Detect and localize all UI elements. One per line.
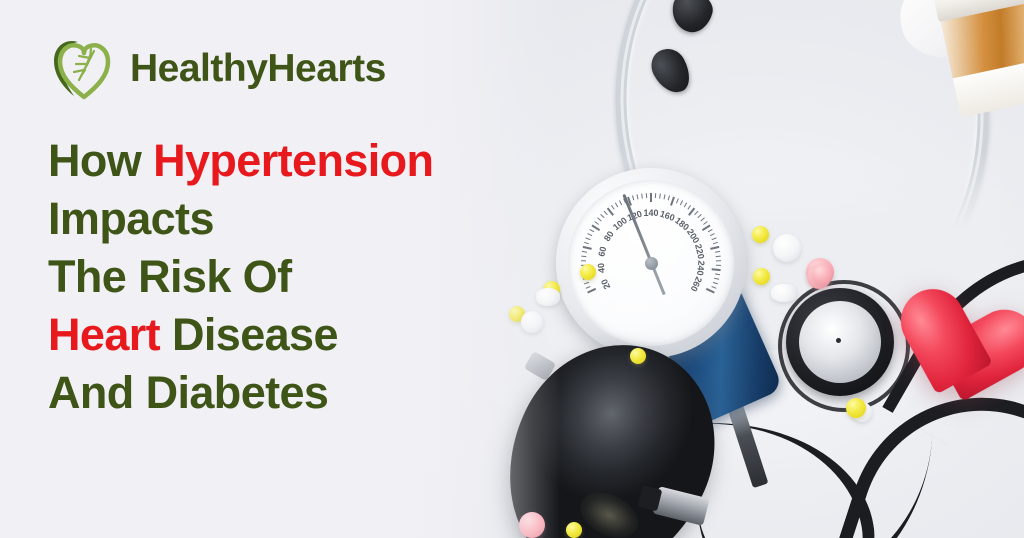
headline: How HypertensionImpactsThe Risk OfHeart … — [48, 132, 548, 422]
svg-text:60: 60 — [596, 245, 608, 257]
svg-text:240: 240 — [695, 260, 706, 276]
headline-line-5: And Diabetes — [48, 364, 548, 422]
bp-gauge-hub — [645, 257, 658, 270]
headline-text: The Risk Of — [48, 251, 291, 302]
pill-yellow — [580, 264, 596, 280]
pill-yellow — [753, 268, 770, 285]
svg-text:20: 20 — [599, 277, 612, 290]
svg-text:260: 260 — [689, 275, 704, 293]
pill-yellow — [752, 226, 769, 243]
pill-white — [771, 284, 797, 302]
brand-name: HealthyHearts — [130, 49, 386, 88]
svg-text:220: 220 — [693, 243, 706, 260]
healthyhearts-banner: 20406080100120140160180200220240260 — [0, 0, 1024, 538]
headline-text: And Diabetes — [48, 367, 328, 418]
pill-yellow — [566, 522, 582, 538]
headline-line-4: Heart Disease — [48, 306, 548, 364]
headline-line-2: Impacts — [48, 190, 548, 248]
headline-line-1: How Hypertension — [48, 132, 548, 190]
heart-leaf-icon — [48, 34, 120, 102]
headline-text: How — [48, 135, 153, 186]
pill-pink — [812, 264, 832, 284]
headline-text: Disease — [160, 309, 338, 360]
svg-text:140: 140 — [643, 208, 658, 218]
pill-yellow — [846, 398, 866, 418]
svg-text:40: 40 — [596, 263, 607, 274]
bp-gauge: 20406080100120140160180200220240260 — [556, 168, 746, 358]
headline-text: Impacts — [48, 193, 214, 244]
headline-accent-word: Hypertension — [153, 135, 433, 186]
svg-text:200: 200 — [685, 227, 702, 245]
pill-yellow — [630, 348, 646, 364]
headline-accent-word: Heart — [48, 309, 160, 360]
headline-line-3: The Risk Of — [48, 248, 548, 306]
svg-text:80: 80 — [602, 229, 616, 243]
banner-content: HealthyHearts How HypertensionImpactsThe… — [0, 0, 560, 538]
brand-logo[interactable]: HealthyHearts — [48, 34, 386, 102]
pill-white — [773, 234, 801, 262]
